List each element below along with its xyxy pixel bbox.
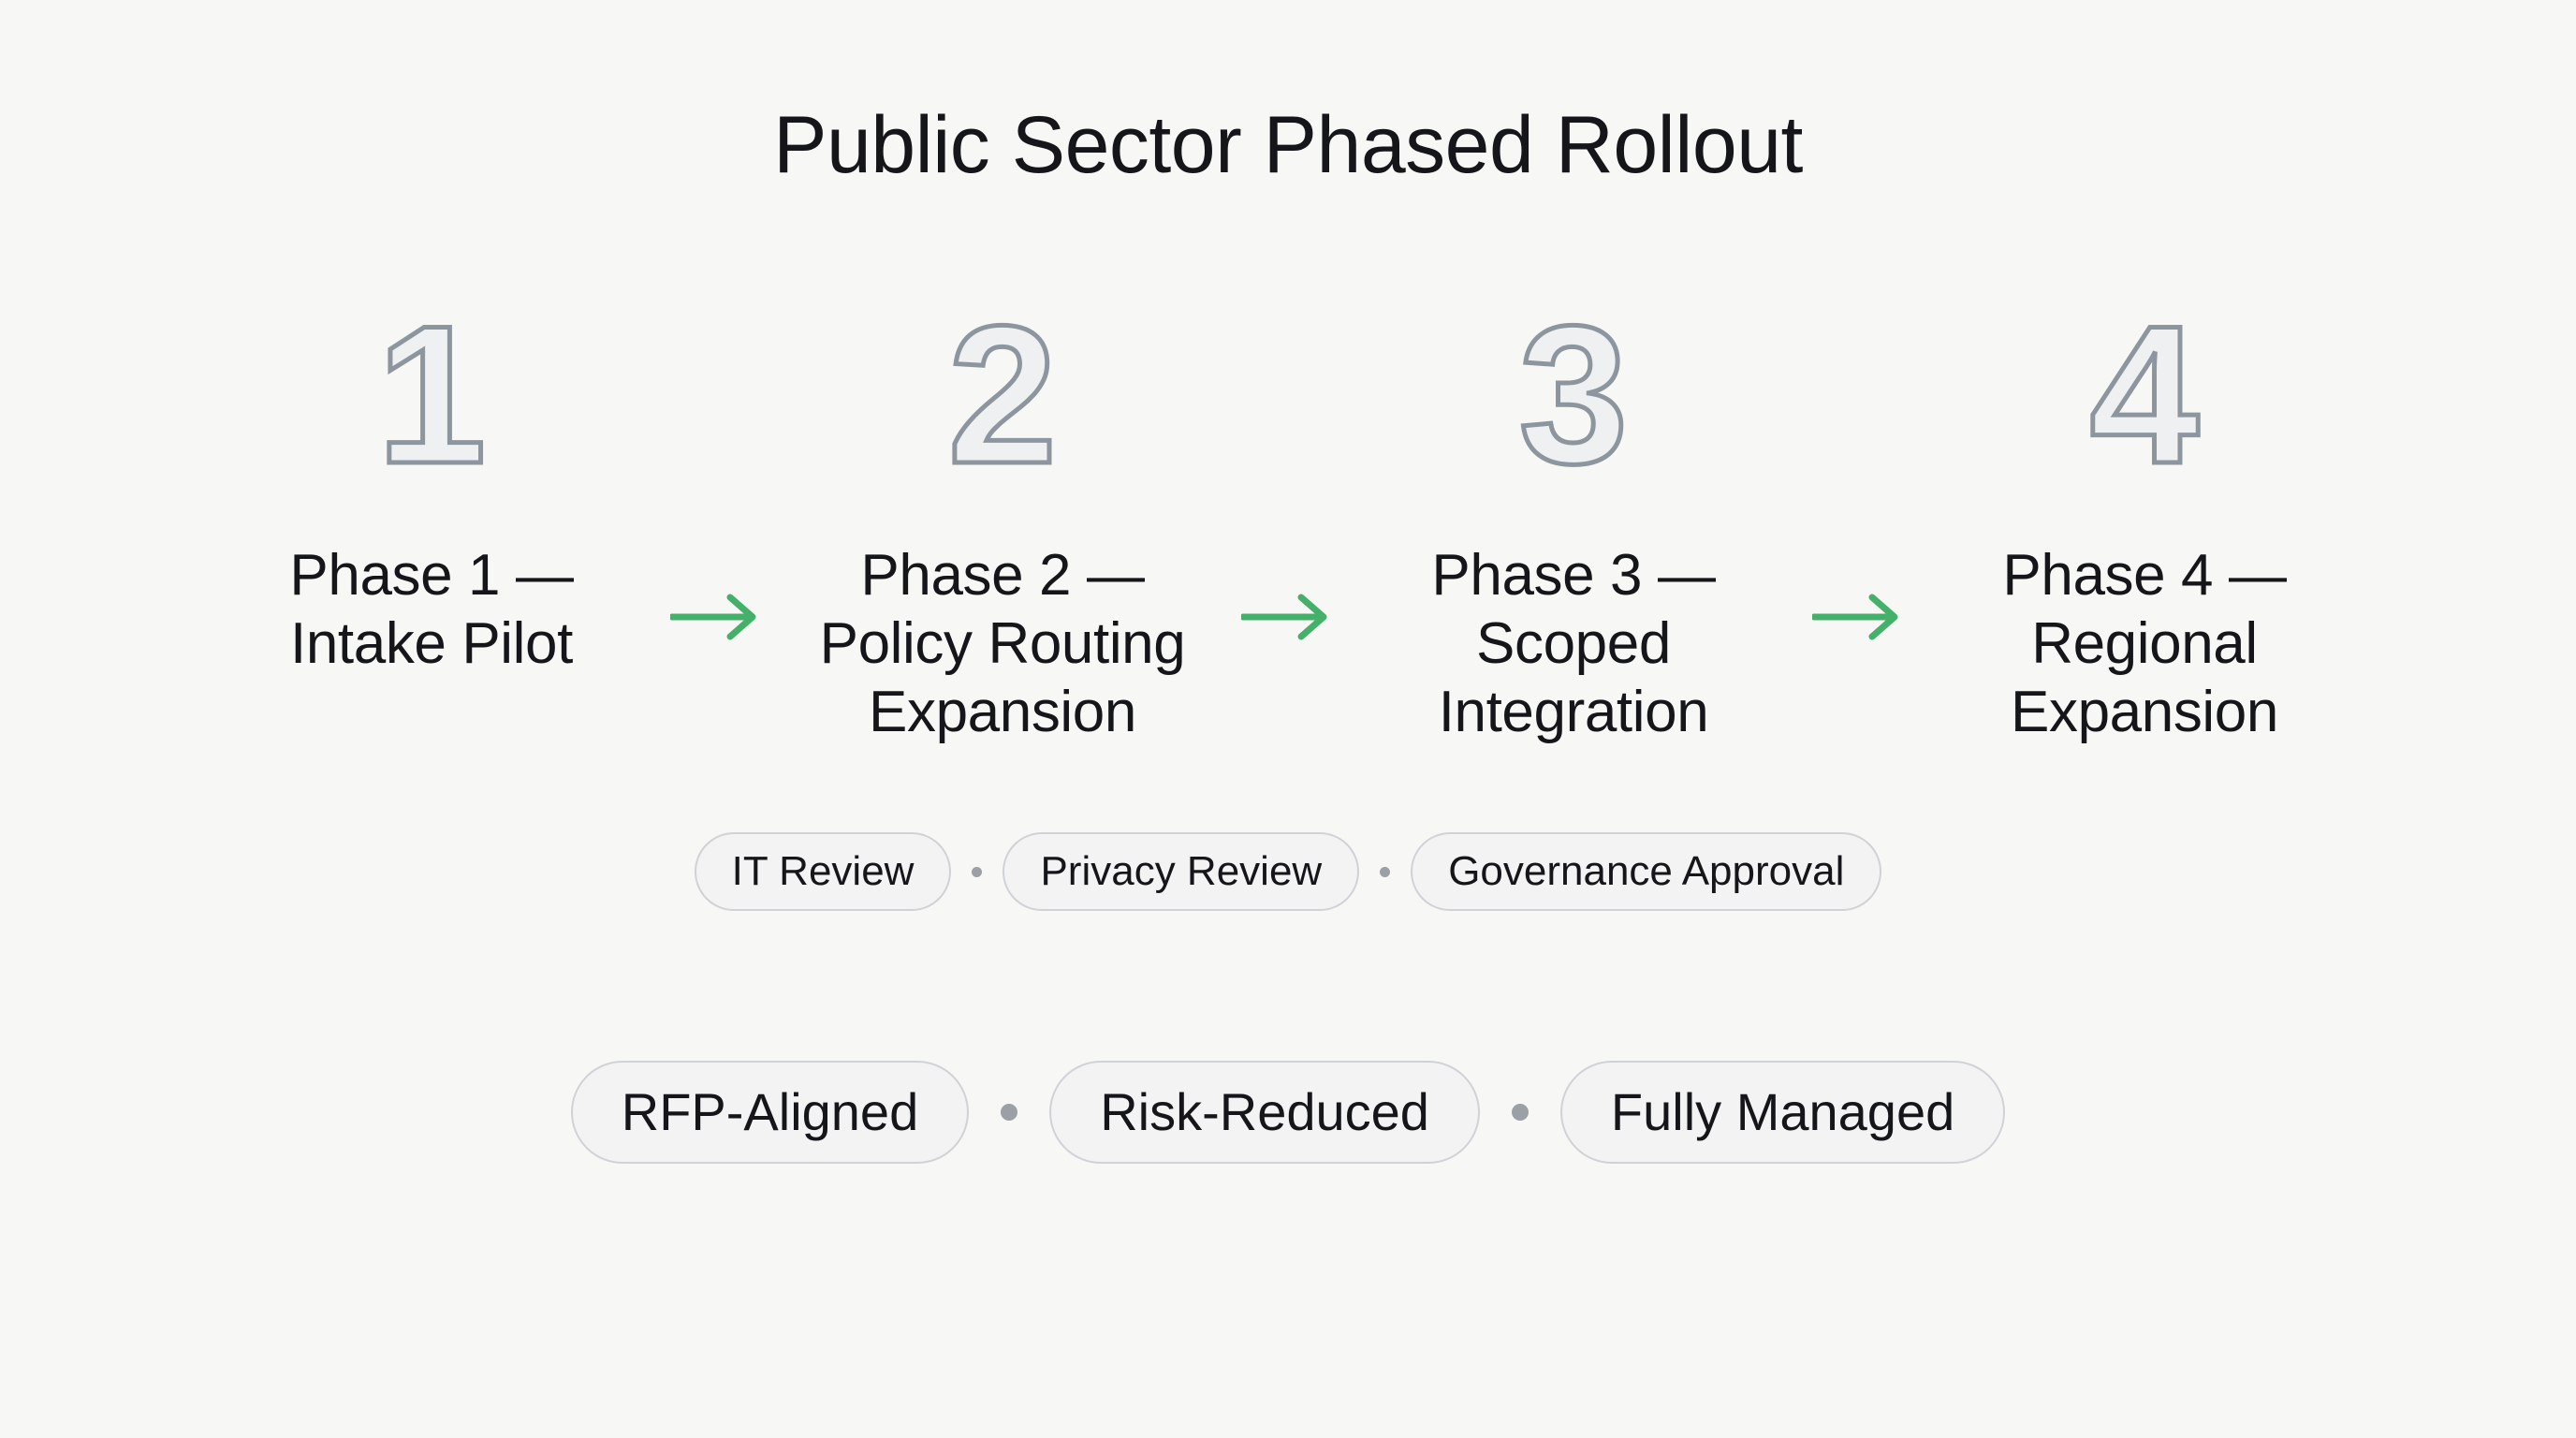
arrow-right-icon [1241,593,1335,641]
separator-dot-icon [1512,1104,1529,1121]
arrow-right-icon [670,593,764,641]
benefit-tag-risk-reduced[interactable]: Risk-Reduced [1049,1061,1480,1164]
phase-label-1: Phase 1 — Intake Pilot [289,541,573,678]
phase-item-4[interactable]: 4 Phase 4 — Regional Expansion [1925,295,2364,746]
phase-label-2: Phase 2 — Policy Routing Expansion [820,541,1186,746]
separator-dot-icon [972,867,982,877]
connector-1 [651,295,783,641]
phase-item-2[interactable]: 2 Phase 2 — Policy Routing Expansion [783,295,1222,746]
arrow-right-icon [1812,593,1906,641]
phase-number-3: 3 [1519,295,1629,496]
phase-item-1[interactable]: 1 Phase 1 — Intake Pilot [212,295,651,678]
separator-dot-icon [1380,867,1390,877]
connector-2 [1222,295,1354,641]
phase-number-2: 2 [948,295,1058,496]
phase-number-4: 4 [2090,295,2200,496]
separator-dot-icon [1001,1104,1017,1121]
phase-number-1: 1 [377,295,487,496]
phase-item-3[interactable]: 3 Phase 3 — Scoped Integration [1354,295,1793,746]
benefit-tag-row: RFP-Aligned Risk-Reduced Fully Managed [571,1061,2005,1164]
benefit-tag-fully-managed[interactable]: Fully Managed [1560,1061,2005,1164]
benefit-tag-rfp-aligned[interactable]: RFP-Aligned [571,1061,969,1164]
slide-root: Public Sector Phased Rollout 1 Phase 1 —… [0,0,2576,1438]
connector-3 [1793,295,1925,641]
review-tag-row: IT Review Privacy Review Governance Appr… [695,832,1882,911]
phase-sequence: 1 Phase 1 — Intake Pilot 2 Phase 2 — Pol… [118,295,2458,746]
page-title: Public Sector Phased Rollout [773,101,1803,190]
review-tag-it-review[interactable]: IT Review [695,832,952,911]
review-tag-privacy-review[interactable]: Privacy Review [1003,832,1359,911]
review-tag-governance-approval[interactable]: Governance Approval [1411,832,1881,911]
phase-label-4: Phase 4 — Regional Expansion [2002,541,2286,746]
phase-label-3: Phase 3 — Scoped Integration [1431,541,1715,746]
